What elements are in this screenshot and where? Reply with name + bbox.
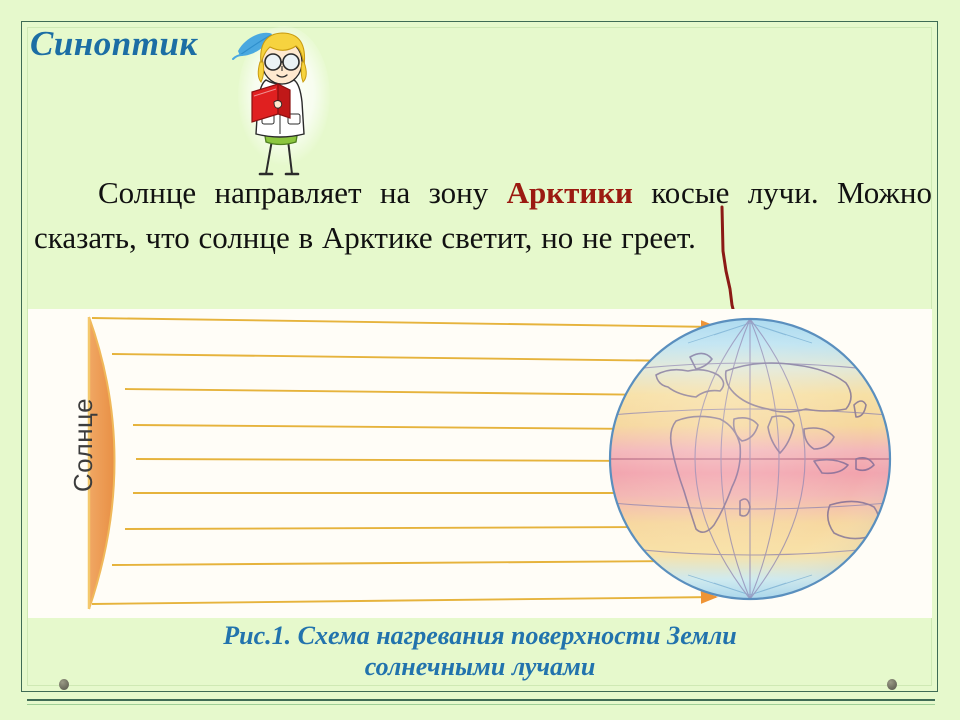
caption-line-1: Рис.1. Схема нагревания поверхности Земл…: [120, 620, 840, 651]
page-title: Синоптик: [30, 24, 198, 64]
slide-canvas: Синоптик: [0, 0, 960, 720]
sun-label: Солнце: [68, 385, 99, 505]
body-text-before: Солнце направляет на зону: [98, 175, 507, 210]
highlight-arktiki: Арктики: [507, 175, 633, 210]
frame-dot-left: [59, 679, 69, 690]
scientist-girl-icon: [226, 18, 336, 176]
slide-frame-underline-secondary: [27, 704, 935, 705]
caption-line-2: солнечными лучами: [120, 651, 840, 682]
figure-caption: Рис.1. Схема нагревания поверхности Земл…: [120, 620, 840, 682]
earth-globe: [610, 319, 890, 599]
slide-frame-underline: [27, 699, 935, 701]
body-paragraph: Солнце направляет на зону Арктики косые …: [34, 170, 932, 260]
book-icon: [252, 84, 290, 122]
diagram-sun-earth-rays: Солнце: [28, 309, 932, 618]
frame-dot-right: [887, 679, 897, 690]
